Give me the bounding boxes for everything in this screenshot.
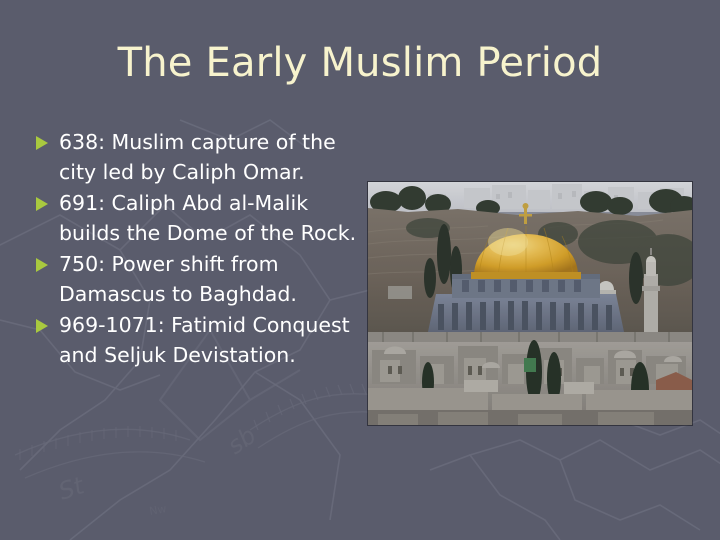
- triangle-bullet-icon: [36, 319, 48, 333]
- slide: St sb Nw The Early Muslim Period 638: Mu…: [0, 0, 720, 540]
- bullet-item: 691: Caliph Abd al-Malik builds the Dome…: [33, 189, 363, 248]
- bullet-text: 638: Muslim capture of the city led by C…: [59, 128, 363, 187]
- bullet-item: 750: Power shift from Damascus to Baghda…: [33, 250, 363, 309]
- bullet-text: 969-1071: Fatimid Conquest and Seljuk De…: [59, 311, 363, 370]
- triangle-bullet-icon: [36, 258, 48, 272]
- svg-text:sb: sb: [222, 421, 261, 460]
- bullet-list: 638: Muslim capture of the city led by C…: [33, 128, 363, 372]
- dome-of-the-rock-photo: [368, 182, 692, 425]
- bullet-item: 638: Muslim capture of the city led by C…: [33, 128, 363, 187]
- bullet-text: 750: Power shift from Damascus to Baghda…: [59, 250, 363, 309]
- svg-text:Nw: Nw: [148, 502, 167, 518]
- bullet-item: 969-1071: Fatimid Conquest and Seljuk De…: [33, 311, 363, 370]
- bullet-text: 691: Caliph Abd al-Malik builds the Dome…: [59, 189, 363, 248]
- triangle-bullet-icon: [36, 197, 48, 211]
- triangle-bullet-icon: [36, 136, 48, 150]
- svg-text:St: St: [55, 471, 89, 506]
- slide-title: The Early Muslim Period: [0, 38, 720, 88]
